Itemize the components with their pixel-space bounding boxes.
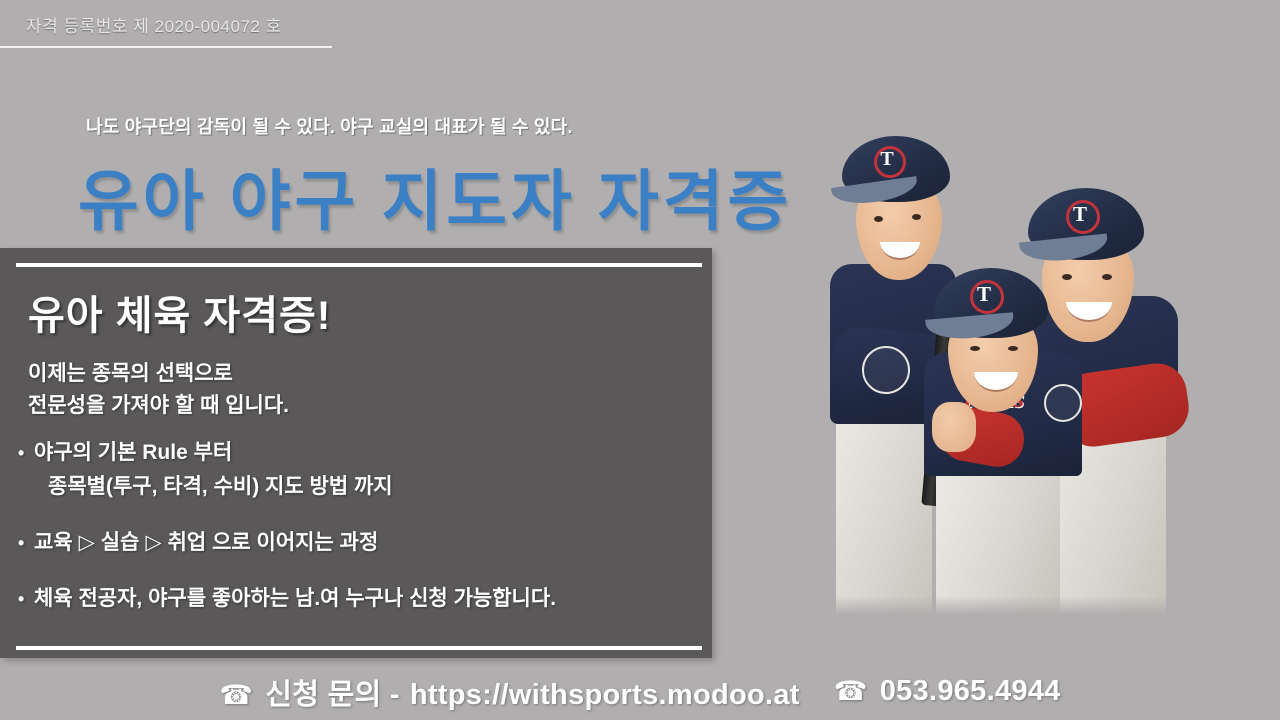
baseball-kids-photo: T T Twins [830, 84, 1202, 618]
headline-kicker: 나도 야구단의 감독이 될 수 있다. 야구 교실의 대표가 될 수 있다. [86, 113, 573, 139]
footer-website-item[interactable]: ☎ 신청 문의 - https://withsports.modoo.at [219, 671, 799, 713]
registration-underline [0, 46, 332, 48]
cap-logo-t: T [1066, 200, 1094, 228]
poster-canvas: 자격 등록번호 제 2020-004072 호 나도 야구단의 감독이 될 수 … [0, 0, 1280, 720]
list-item: • 교육 ▷ 실습 ▷ 취업 으로 이어지는 과정 [18, 526, 698, 560]
list-item: • 체육 전공자, 야구를 좋아하는 남.여 누구나 신청 가능합니다. [18, 582, 698, 616]
list-item: • 야구의 기본 Rule 부터 종목별(투구, 타격, 수비) 지도 방법 까… [18, 436, 698, 504]
bullet-dot-icon: • [18, 526, 34, 560]
arrow-right-icon: ▷ [73, 526, 101, 560]
photo-bottom-fade [830, 596, 1202, 618]
bullet-part-practice: 실습 [101, 526, 140, 560]
footer-contact-bar: ☎ 신청 문의 - https://withsports.modoo.at ☎ … [0, 663, 1280, 720]
telephone-icon: ☎ [219, 680, 253, 711]
panel-bullet-list: • 야구의 기본 Rule 부터 종목별(투구, 타격, 수비) 지도 방법 까… [18, 436, 698, 630]
footer-phone-item[interactable]: ☎ 053.965.4944 [834, 675, 1061, 708]
footer-phone-number[interactable]: 053.965.4944 [880, 675, 1061, 708]
arrow-right-icon: ▷ [139, 526, 167, 560]
panel-heading: 유아 체육 자격증! [28, 283, 331, 341]
cap-logo-t: T [874, 146, 900, 172]
panel-divider-top [16, 263, 702, 267]
info-panel: 유아 체육 자격증! 이제는 종목의 선택으로 전문성을 가져야 할 때 입니다… [0, 248, 712, 658]
panel-lead-line-2: 전문성을 가져야 할 때 입니다. [28, 390, 289, 422]
bullet-text: 체육 전공자, 야구를 좋아하는 남.여 누구나 신청 가능합니다. [34, 582, 556, 616]
registration-number-block: 자격 등록번호 제 2020-004072 호 [0, 12, 332, 48]
registration-number-text: 자격 등록번호 제 2020-004072 호 [26, 12, 282, 37]
bullet-part-education: 교육 [34, 526, 73, 560]
cap-logo-t: T [970, 280, 998, 308]
panel-divider-bottom [16, 646, 702, 650]
footer-website-link[interactable]: https://withsports.modoo.at [410, 679, 800, 712]
bullet-part-employment: 취업 으로 이어지는 과정 [168, 526, 379, 560]
footer-inquiry-label: 신청 문의 - [265, 671, 400, 713]
bullet-text: 야구의 기본 Rule 부터 [34, 436, 232, 470]
telephone-icon: ☎ [834, 676, 868, 707]
bullet-dot-icon: • [18, 436, 34, 470]
panel-lead-text: 이제는 종목의 선택으로 전문성을 가져야 할 때 입니다. [28, 358, 289, 422]
panel-lead-line-1: 이제는 종목의 선택으로 [28, 358, 289, 390]
bullet-dot-icon: • [18, 582, 34, 616]
bullet-subtext: 종목별(투구, 타격, 수비) 지도 방법 까지 [48, 470, 698, 504]
page-title: 유아 야구 지도자 자격증 [78, 148, 792, 244]
